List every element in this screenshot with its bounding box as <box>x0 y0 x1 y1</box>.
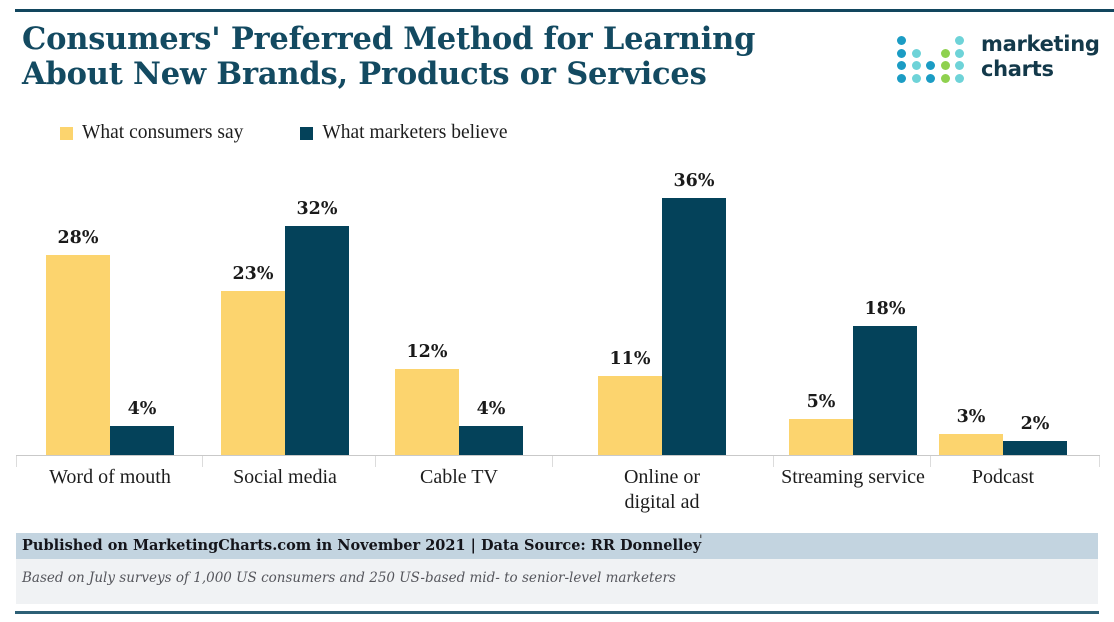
bar-value-label: 18% <box>853 299 917 319</box>
bar-cable-tv-series-2[interactable] <box>459 426 523 455</box>
bar-value-label: 36% <box>662 171 726 191</box>
bar-online-or-digital-ad-series-1[interactable] <box>598 376 662 455</box>
bar-podcast-series-1[interactable] <box>939 434 1003 455</box>
methodology-note: Based on July surveys of 1,000 US consum… <box>22 570 676 586</box>
bar-value-label: 4% <box>110 399 174 419</box>
bar-social-media-series-2[interactable] <box>285 226 349 455</box>
bar-value-label: 2% <box>1003 414 1067 434</box>
bar-podcast-series-2[interactable] <box>1003 441 1067 455</box>
published-text: Published on MarketingCharts.com in Nove… <box>22 535 701 557</box>
bar-value-label: 5% <box>789 392 853 412</box>
bar-cable-tv-series-1[interactable] <box>395 369 459 455</box>
bar-value-label: 28% <box>46 228 110 248</box>
bar-word-of-mouth-series-2[interactable] <box>110 426 174 455</box>
bar-online-or-digital-ad-series-2[interactable] <box>662 198 726 455</box>
category-label-line: Online or <box>624 466 700 488</box>
bar-word-of-mouth-series-1[interactable] <box>46 255 110 455</box>
bar-social-media-series-1[interactable] <box>221 291 285 455</box>
category-label-line: Cable TV <box>420 466 498 488</box>
bar-value-label: 3% <box>939 407 1003 427</box>
category-label-line: Podcast <box>972 466 1034 488</box>
category-label-line: digital ad <box>625 491 700 513</box>
bar-value-label: 11% <box>598 349 662 369</box>
x-axis-line <box>16 455 1100 456</box>
category-label-line: Social media <box>233 466 337 488</box>
bar-value-label: 23% <box>221 264 285 284</box>
category-label-line: Word of mouth <box>49 466 171 488</box>
bar-chart-plot: 28%4%Word of mouth23%32%Social media12%4… <box>0 0 1114 622</box>
published-apostrophe-mark: ' <box>699 533 703 548</box>
x-axis-category-label: Podcast <box>883 465 1114 490</box>
bar-streaming-service-series-1[interactable] <box>789 419 853 455</box>
bar-value-label: 12% <box>395 342 459 362</box>
bar-value-label: 4% <box>459 399 523 419</box>
bar-value-label: 32% <box>285 199 349 219</box>
bar-streaming-service-series-2[interactable] <box>853 326 917 455</box>
